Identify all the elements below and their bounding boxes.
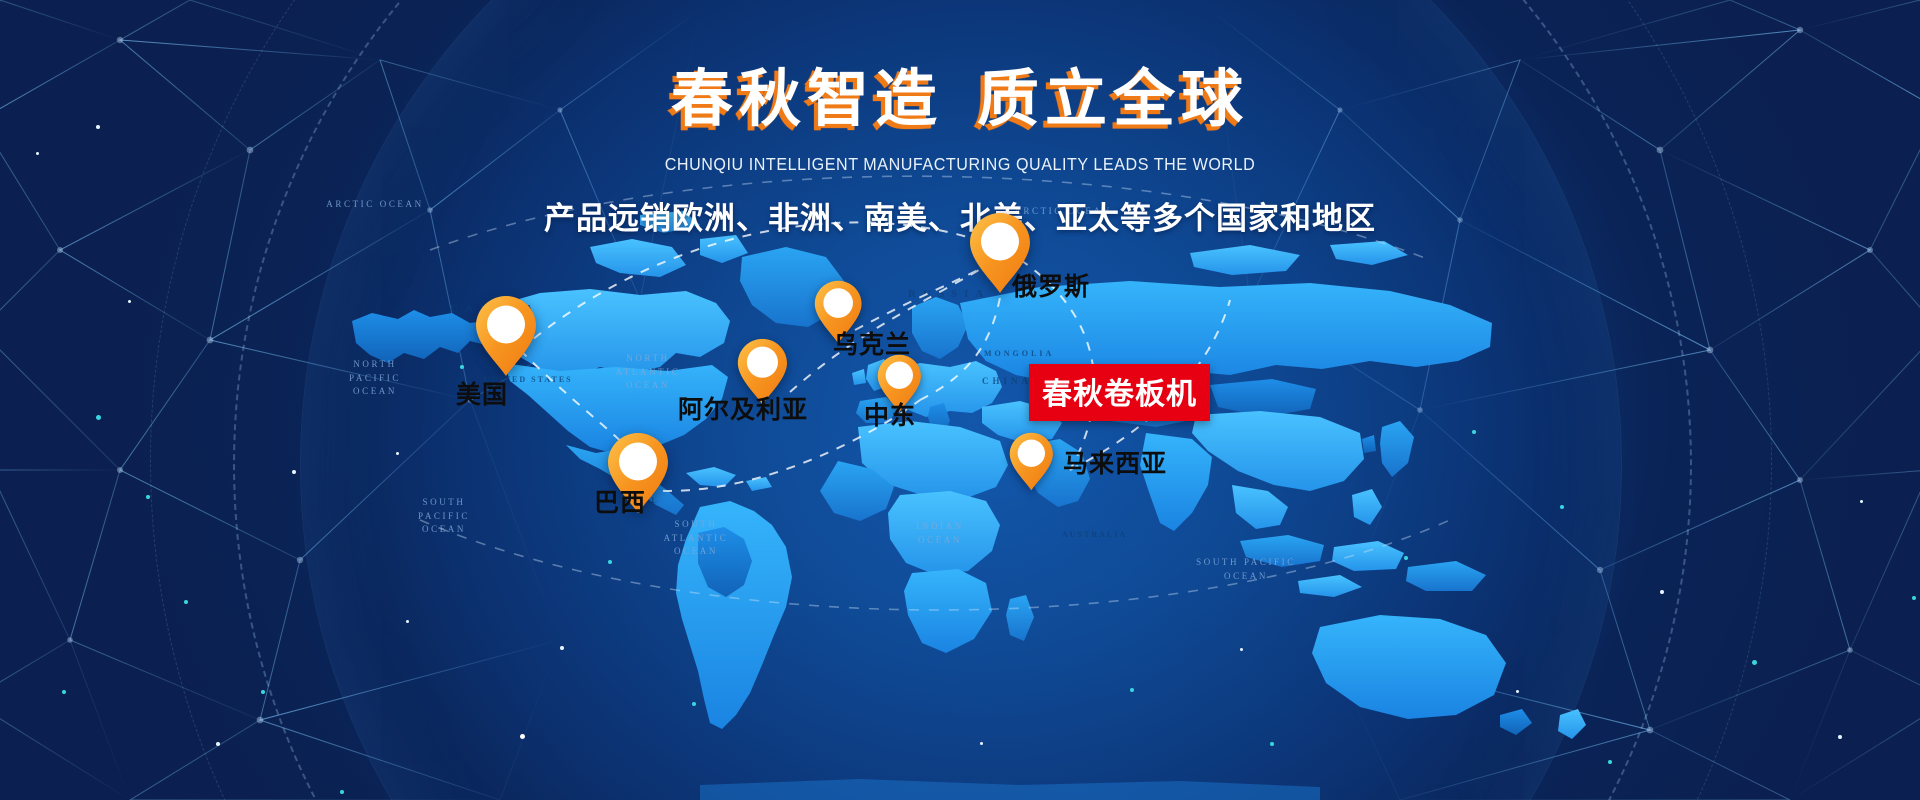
tagline-chinese: 产品远销欧洲、非洲、南美、北美、亚太等多个国家和地区 <box>0 193 1920 238</box>
banner-root: 春秋智造质立全球 CHUNQIU INTELLIGENT MANUFACTURI… <box>0 0 1920 800</box>
product-badge[interactable]: 春秋卷板机 <box>1029 364 1210 421</box>
location-pin-icon <box>475 295 537 377</box>
marker-label-russia: 俄罗斯 <box>1012 267 1090 303</box>
location-pin-icon <box>1009 432 1054 491</box>
marker-label-ukraine: 乌克兰 <box>833 325 911 361</box>
marker-label-brazil: 巴西 <box>594 483 646 519</box>
world-map <box>0 195 1920 800</box>
map-marker-usa[interactable] <box>475 295 537 377</box>
map-marker-malaysia[interactable] <box>1009 432 1054 491</box>
marker-label-algeria: 阿尔及利亚 <box>678 390 808 426</box>
title-part-1: 春秋智造 <box>671 62 943 135</box>
marker-label-usa: 美国 <box>456 375 508 411</box>
page-title: 春秋智造质立全球 <box>0 0 1920 138</box>
marker-label-malaysia: 马来西亚 <box>1063 444 1167 480</box>
header-block: 春秋智造质立全球 CHUNQIU INTELLIGENT MANUFACTURI… <box>0 0 1920 238</box>
title-part-2: 质立全球 <box>977 62 1249 135</box>
marker-label-middleeast: 中东 <box>864 396 916 432</box>
subtitle-english: CHUNQIU INTELLIGENT MANUFACTURING QUALIT… <box>77 154 1843 175</box>
